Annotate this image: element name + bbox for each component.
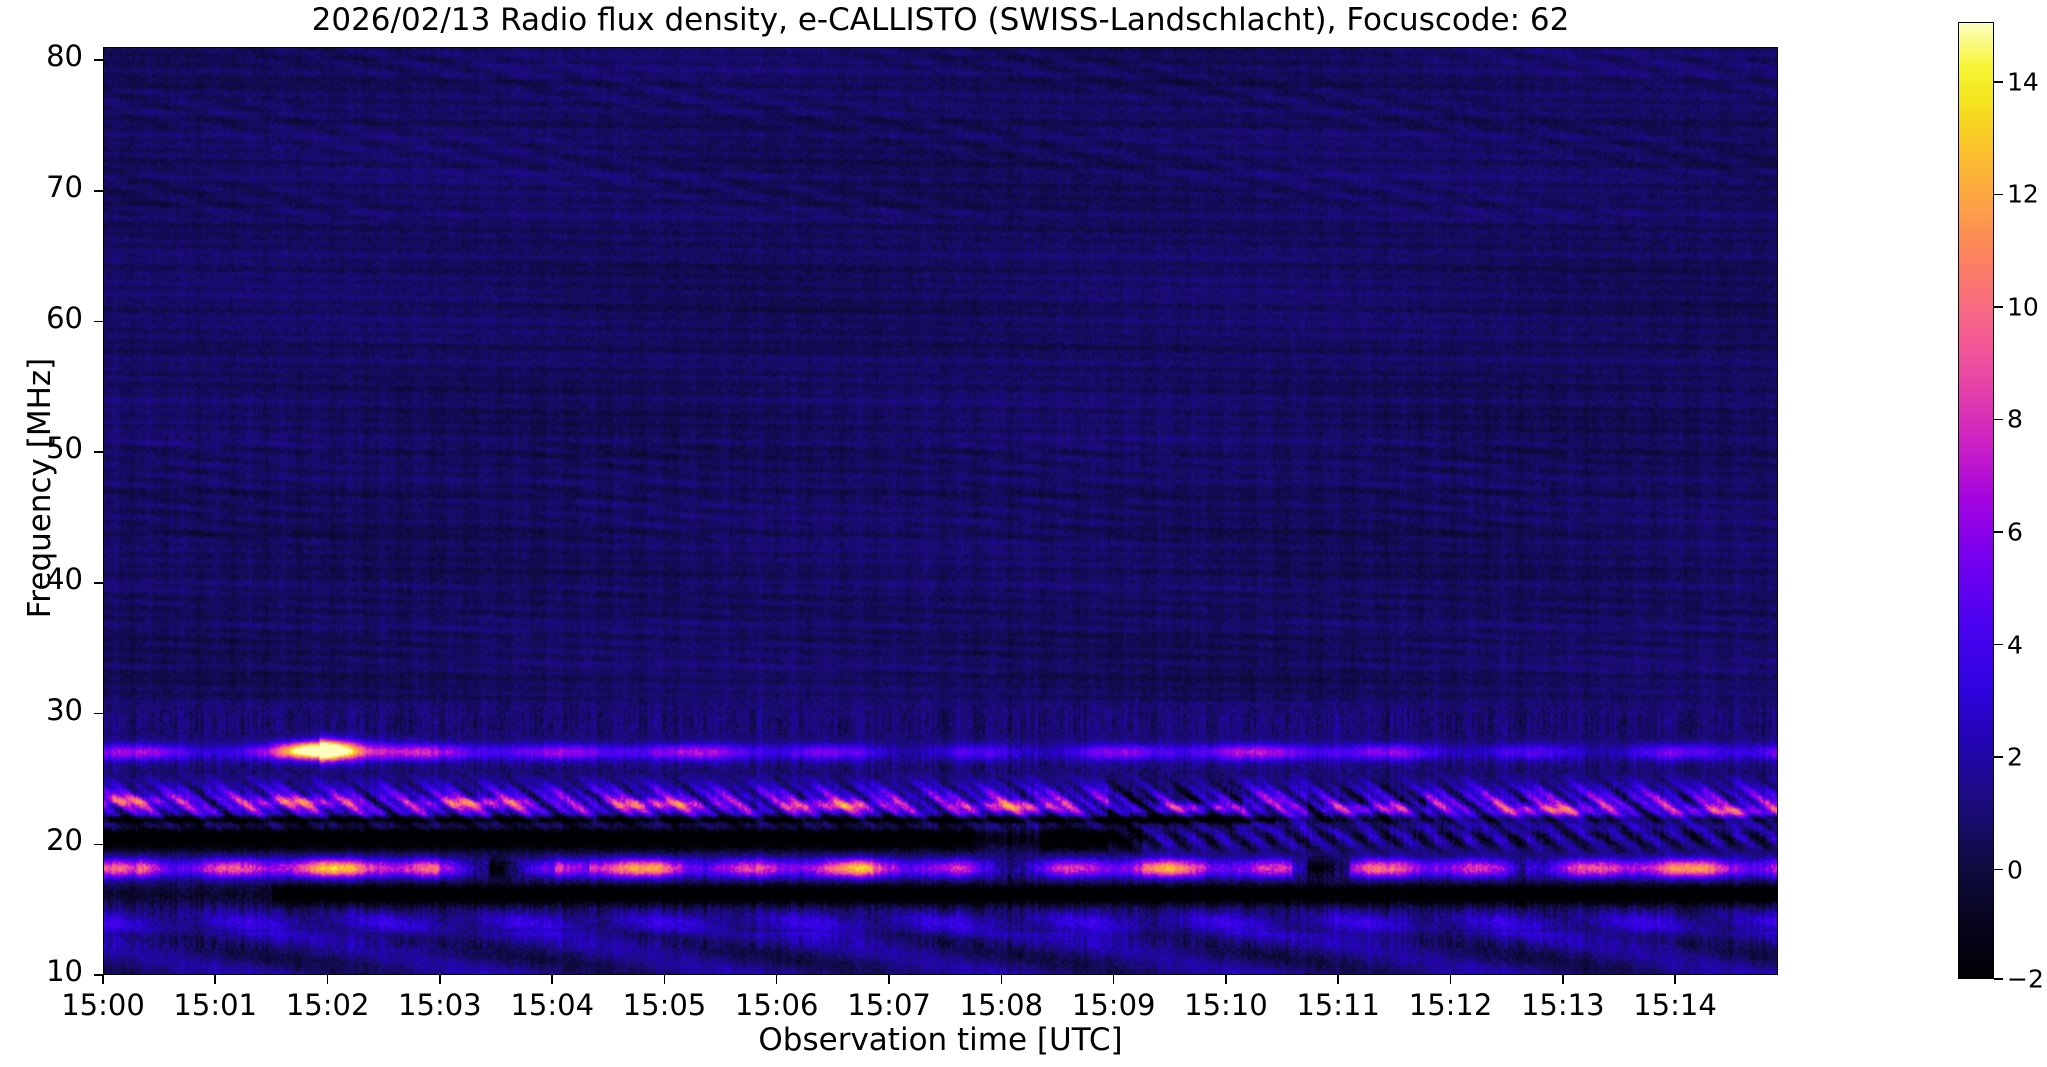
x-tick-mark bbox=[1113, 975, 1115, 984]
x-tick-mark bbox=[1337, 975, 1339, 984]
x-tick-mark bbox=[327, 975, 329, 984]
colorbar-tick-label: −2 bbox=[2007, 965, 2044, 994]
colorbar-tick-mark bbox=[1994, 419, 2003, 421]
colorbar-tick-mark bbox=[1994, 869, 2003, 871]
y-tick-mark bbox=[94, 190, 103, 192]
x-tick-mark bbox=[1001, 975, 1003, 984]
x-axis-label: Observation time [UTC] bbox=[103, 1022, 1778, 1058]
x-tick-label: 15:01 bbox=[173, 988, 257, 1022]
colorbar-tick-label: 0 bbox=[2007, 855, 2023, 884]
x-tick-label: 15:05 bbox=[623, 988, 707, 1022]
colorbar-tick-label: 12 bbox=[2007, 180, 2039, 209]
x-tick-label: 15:12 bbox=[1409, 988, 1493, 1022]
spectrogram-axes[interactable] bbox=[103, 47, 1778, 975]
y-tick-mark bbox=[94, 844, 103, 846]
x-tick-mark bbox=[551, 975, 553, 984]
colorbar-tick-label: 8 bbox=[2007, 405, 2023, 434]
colorbar-gradient[interactable] bbox=[1958, 22, 1994, 979]
colorbar-tick-label: 6 bbox=[2007, 517, 2023, 546]
x-tick-label: 15:08 bbox=[960, 988, 1044, 1022]
colorbar-tick-mark bbox=[1994, 306, 2003, 308]
x-tick-mark bbox=[888, 975, 890, 984]
x-tick-label: 15:07 bbox=[847, 988, 931, 1022]
x-tick-mark bbox=[1450, 975, 1452, 984]
y-tick-label: 80 bbox=[3, 39, 83, 73]
page-title: 2026/02/13 Radio flux density, e-CALLIST… bbox=[103, 2, 1778, 38]
y-tick-mark bbox=[94, 59, 103, 61]
y-tick-label: 40 bbox=[3, 562, 83, 596]
y-tick-label: 60 bbox=[3, 301, 83, 335]
x-tick-mark bbox=[214, 975, 216, 984]
colorbar-tick-mark bbox=[1994, 81, 2003, 83]
colorbar-tick-label: 2 bbox=[2007, 743, 2023, 772]
colorbar-tick-mark bbox=[1994, 531, 2003, 533]
x-tick-label: 15:11 bbox=[1296, 988, 1380, 1022]
x-tick-label: 15:14 bbox=[1633, 988, 1717, 1022]
colorbar-tick-label: 10 bbox=[2007, 292, 2039, 321]
y-tick-label: 20 bbox=[3, 823, 83, 857]
x-tick-mark bbox=[1562, 975, 1564, 984]
colorbar-tick-mark bbox=[1994, 644, 2003, 646]
y-tick-label: 50 bbox=[3, 431, 83, 465]
y-tick-label: 10 bbox=[3, 954, 83, 988]
x-tick-mark bbox=[439, 975, 441, 984]
x-tick-label: 15:10 bbox=[1184, 988, 1268, 1022]
spectrogram-image bbox=[104, 48, 1777, 974]
x-tick-label: 15:04 bbox=[510, 988, 594, 1022]
y-tick-mark bbox=[94, 321, 103, 323]
x-tick-label: 15:09 bbox=[1072, 988, 1156, 1022]
x-tick-mark bbox=[776, 975, 778, 984]
x-tick-label: 15:06 bbox=[735, 988, 819, 1022]
x-tick-mark bbox=[1225, 975, 1227, 984]
x-tick-label: 15:03 bbox=[398, 988, 482, 1022]
x-tick-mark bbox=[664, 975, 666, 984]
x-tick-mark bbox=[102, 975, 104, 984]
colorbar-tick-mark bbox=[1994, 194, 2003, 196]
x-tick-label: 15:13 bbox=[1521, 988, 1605, 1022]
x-tick-label: 15:02 bbox=[286, 988, 370, 1022]
colorbar-tick-label: 4 bbox=[2007, 630, 2023, 659]
colorbar-tick-label: 14 bbox=[2007, 67, 2039, 96]
x-tick-label: 15:00 bbox=[61, 988, 145, 1022]
y-tick-mark bbox=[94, 713, 103, 715]
y-tick-mark bbox=[94, 451, 103, 453]
y-tick-label: 70 bbox=[3, 170, 83, 204]
x-tick-mark bbox=[1674, 975, 1676, 984]
y-tick-mark bbox=[94, 582, 103, 584]
y-tick-label: 30 bbox=[3, 693, 83, 727]
colorbar-tick-mark bbox=[1994, 978, 2003, 980]
colorbar-tick-mark bbox=[1994, 756, 2003, 758]
